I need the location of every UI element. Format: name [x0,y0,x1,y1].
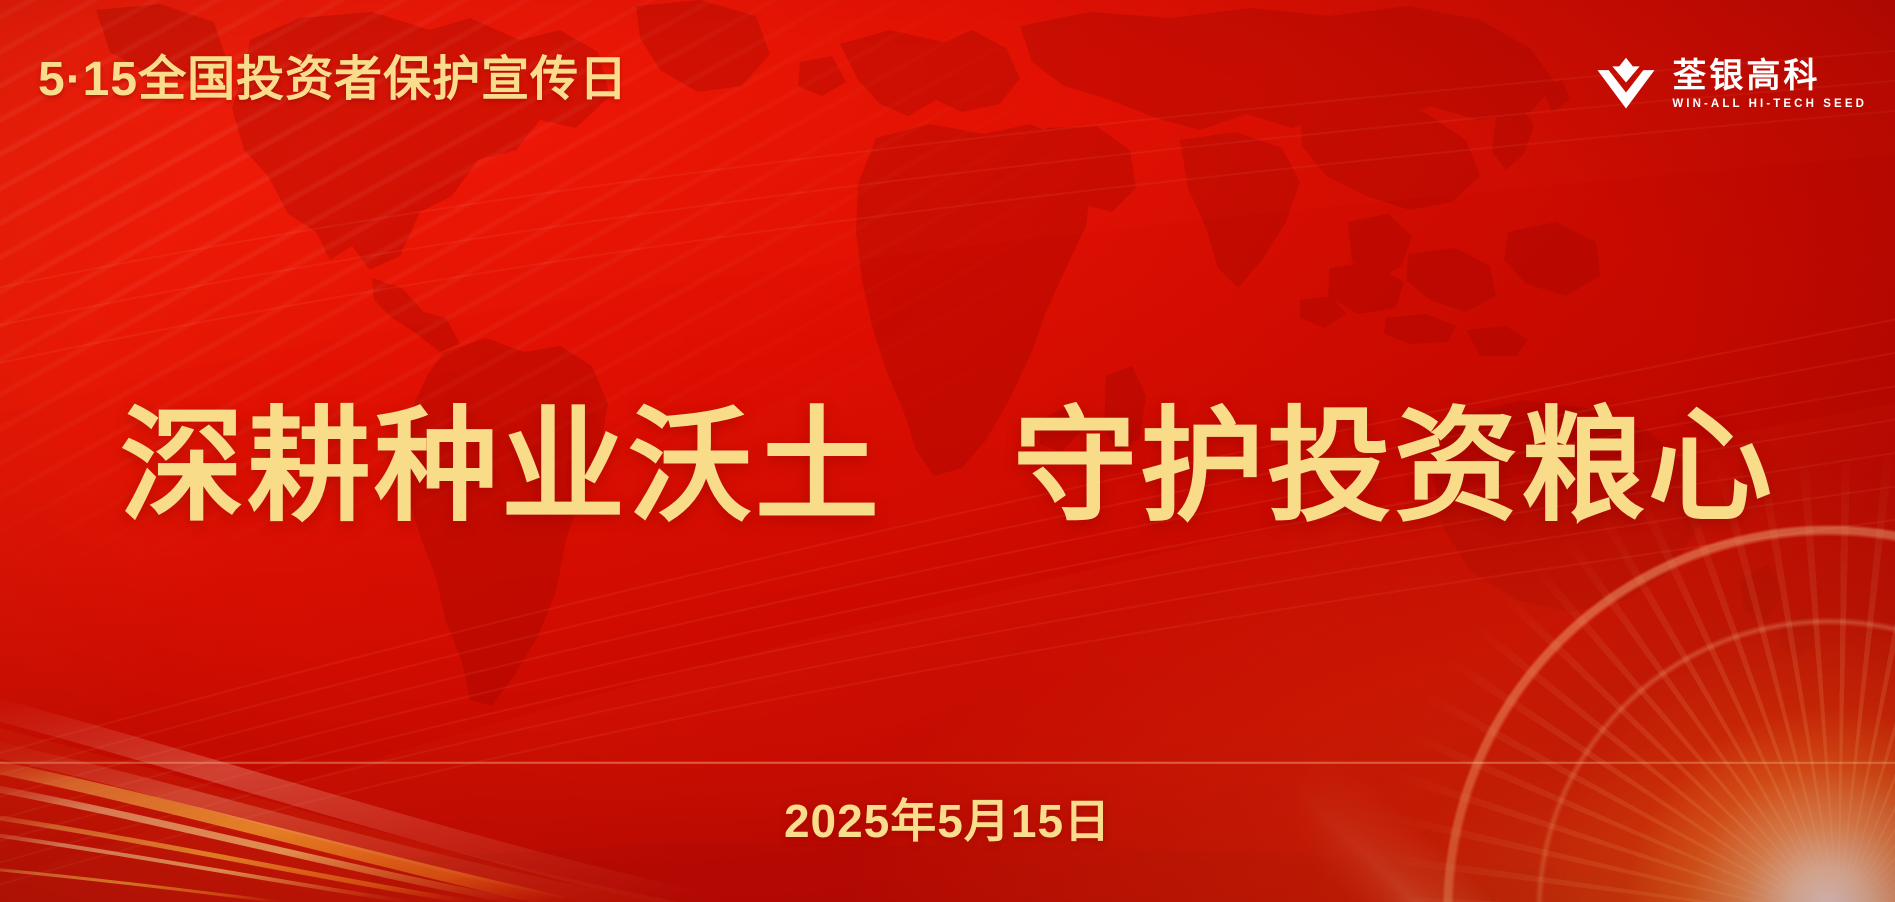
company-logo-text: 荃银高科 WIN-ALL HI-TECH SEED [1672,58,1867,112]
headline-part-1: 深耕种业沃土 [120,398,882,536]
campaign-kicker-title: 5·15全国投资者保护宣传日 [38,55,628,105]
company-name-cn: 荃银高科 [1672,58,1867,94]
headline-part-2: 守护投资粮心 [1013,398,1775,536]
company-logo: 荃银高科 WIN-ALL HI-TECH SEED [1595,54,1867,116]
main-headline: 深耕种业沃土 守护投资粮心 [0,405,1895,529]
event-date: 2025年5月15日 [0,798,1895,844]
banner-content: 5·15全国投资者保护宣传日 荃银高科 WIN-ALL HI-TECH SEED… [0,0,1895,902]
company-name-en: WIN-ALL HI-TECH SEED [1672,98,1867,112]
chevron-diamond-logo-mark-icon [1595,54,1657,116]
banner-poster: 5·15全国投资者保护宣传日 荃银高科 WIN-ALL HI-TECH SEED… [0,0,1895,902]
